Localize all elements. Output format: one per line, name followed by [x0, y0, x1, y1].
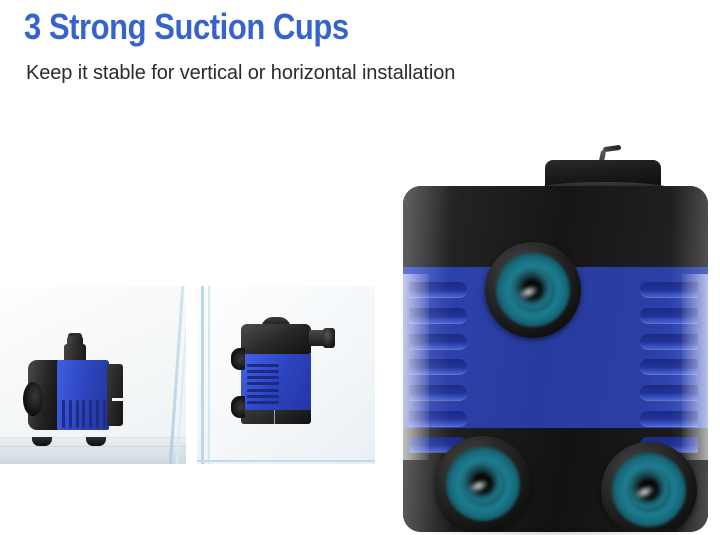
page-subtitle: Keep it stable for vertical or horizonta…: [26, 58, 456, 88]
pump-top-housing: [241, 324, 311, 354]
vent-grille-right: [640, 282, 702, 452]
pump-vent-grille: [247, 364, 279, 404]
pump-outlet-port: [323, 328, 335, 348]
pump-rear-housing: [107, 364, 123, 426]
pump-rear-slot: [112, 398, 123, 401]
product-body: [403, 186, 708, 532]
vent-grille-left: [409, 282, 471, 452]
glass-edge-outer: [201, 286, 204, 464]
product-ground-shadow: [415, 526, 695, 535]
pump-horizontal: [24, 338, 134, 442]
tank-floor-edge: [0, 446, 186, 447]
suction-cup-bottom-right: [601, 442, 697, 532]
inset-horizontal-install: [0, 286, 186, 464]
page-title: 3 Strong Suction Cups: [24, 4, 349, 49]
suction-cup-top: [485, 242, 581, 338]
pump-base-housing: [241, 410, 311, 424]
marketing-image-canvas: 3 Strong Suction Cups Keep it stable for…: [0, 0, 720, 535]
suction-cup-foot-right: [86, 437, 106, 446]
suction-cup-bottom-left: [435, 436, 531, 532]
pump-vertical: [233, 314, 341, 430]
suction-cup-upper: [231, 348, 245, 370]
suction-cup-lower: [231, 396, 245, 418]
inset-vertical-install: [197, 286, 375, 464]
pump-base-seam: [274, 410, 275, 424]
pump-intake-port: [23, 382, 43, 416]
product-hero-image: [403, 160, 708, 532]
glass-edge-bottom: [197, 460, 375, 462]
suction-cup-foot-left: [32, 437, 52, 446]
glass-edge-inner: [208, 286, 210, 464]
pump-vent-grille: [62, 400, 106, 428]
